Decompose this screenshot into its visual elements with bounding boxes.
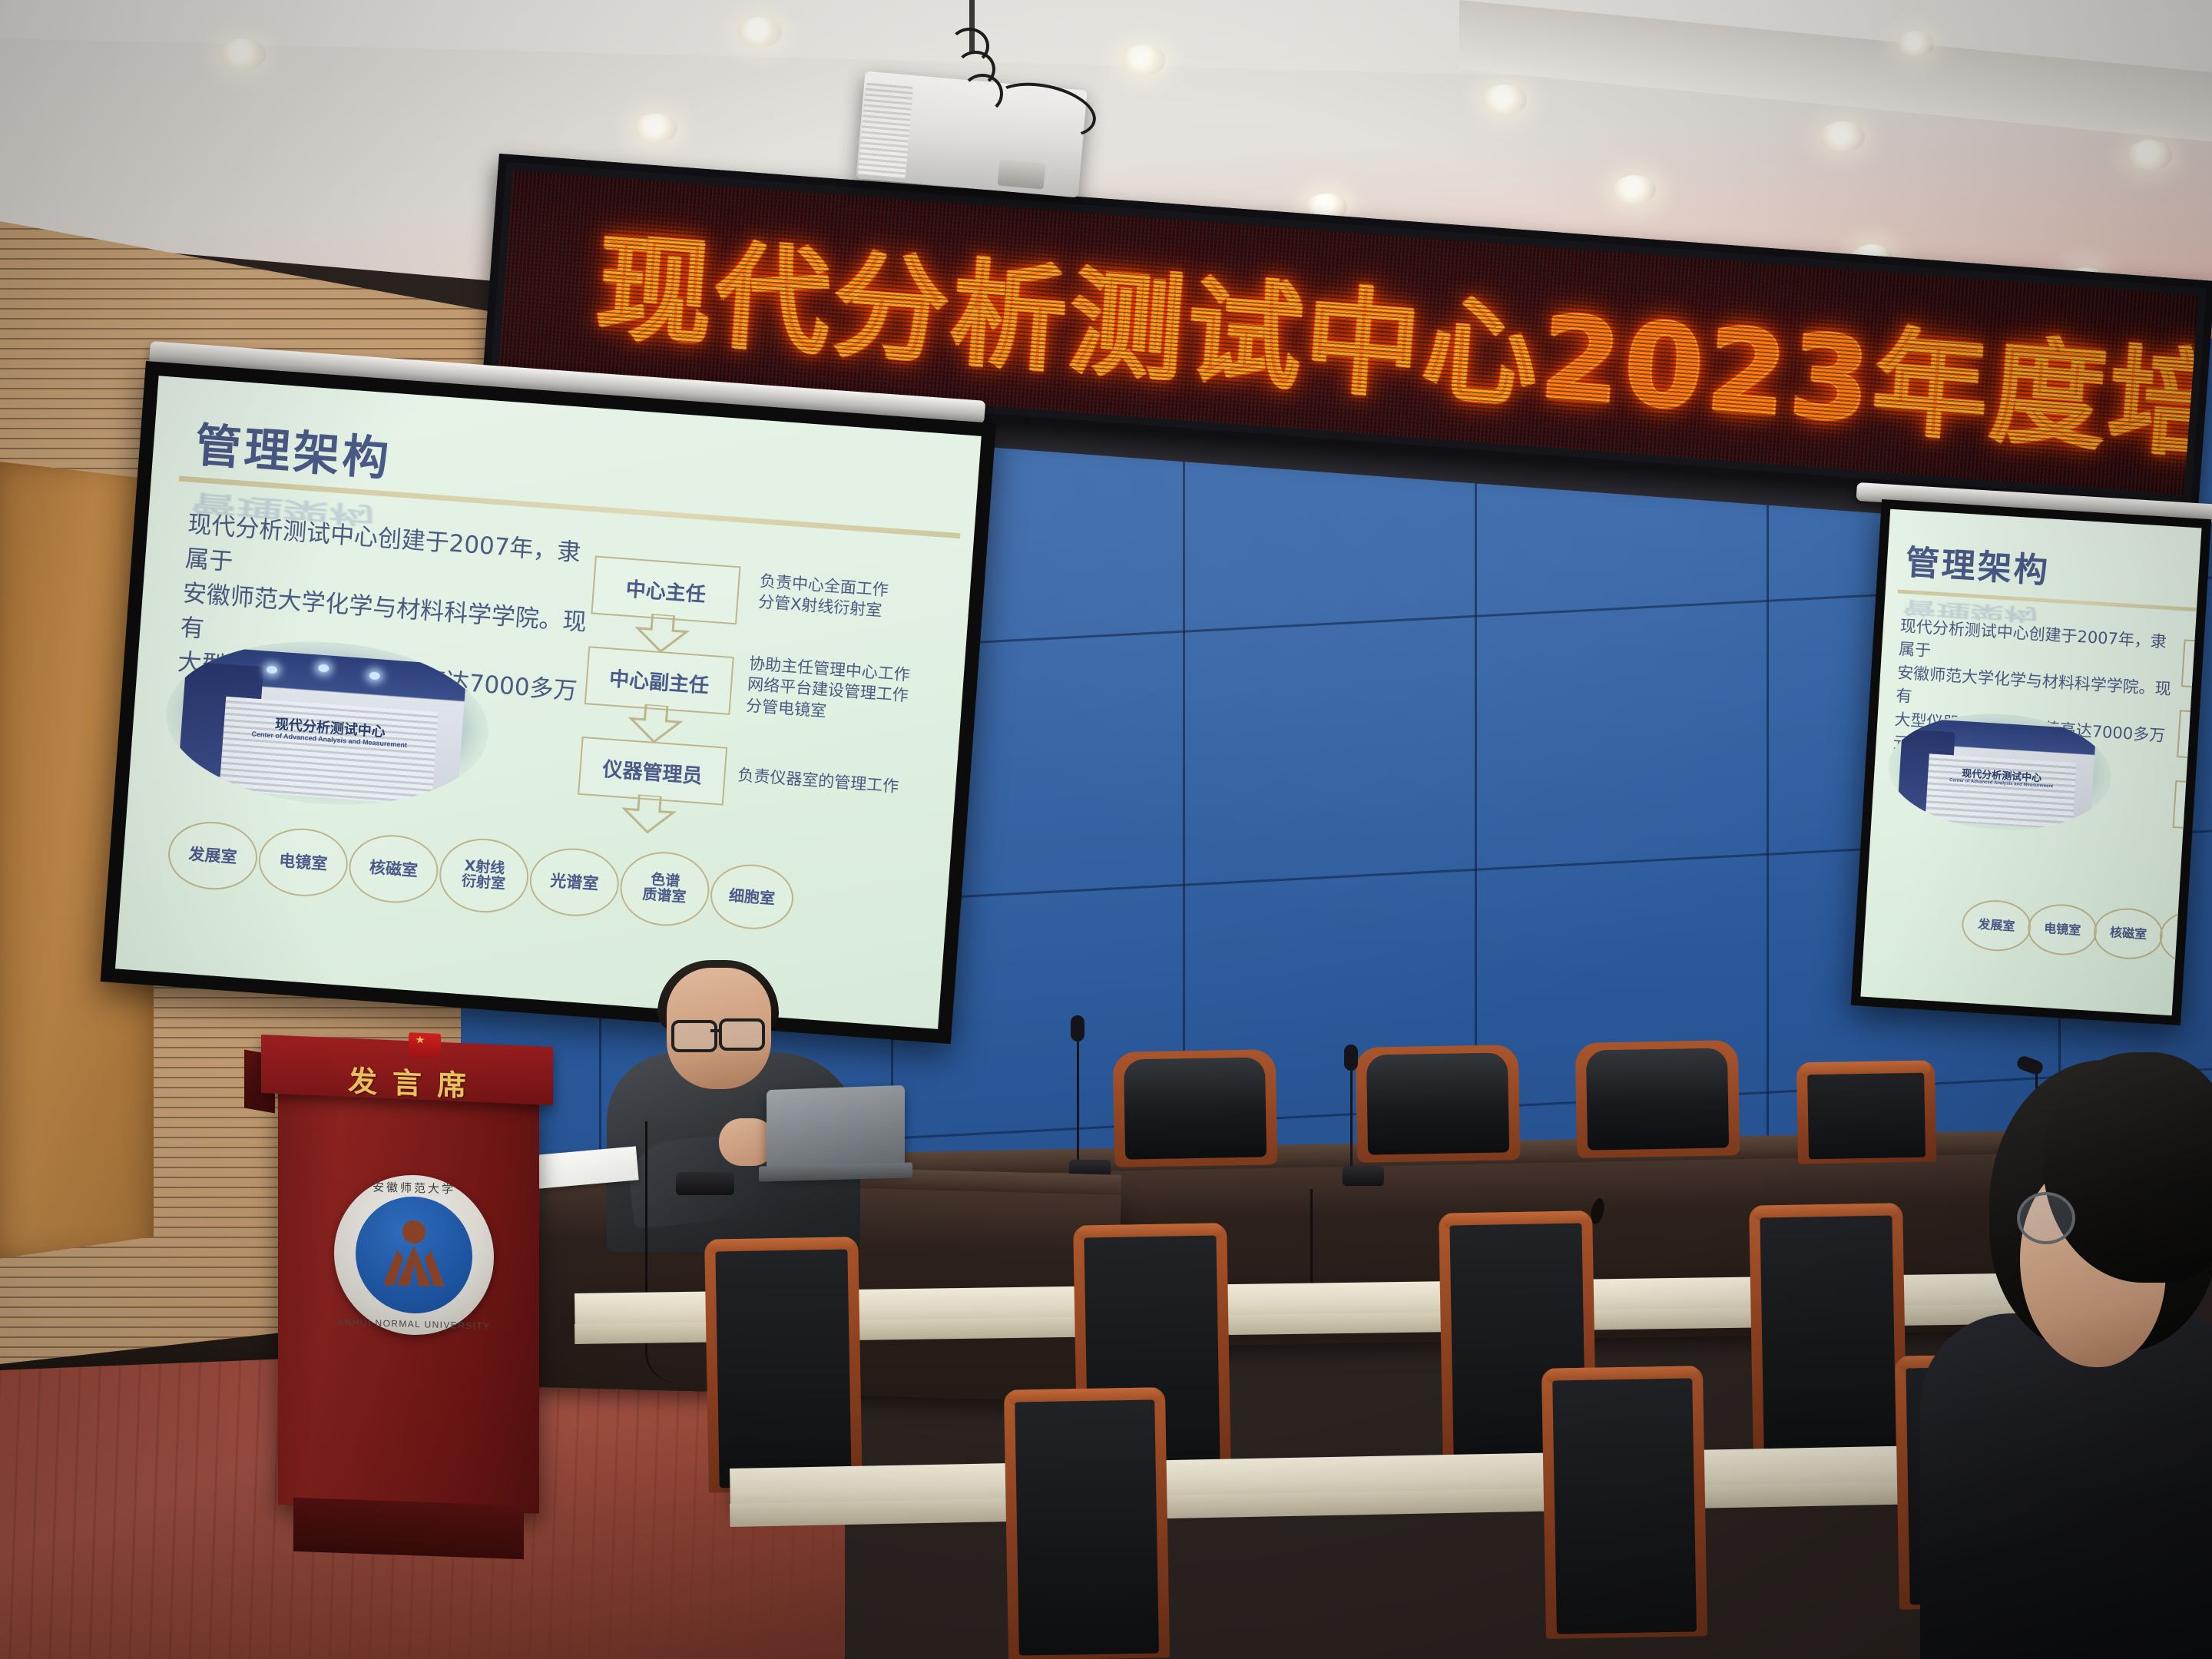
facade-lamp (267, 665, 278, 674)
lab-circle: 光谱室 (528, 846, 621, 919)
projection-screen-main: 管理架构 管理架构 现代分析测试中心创建于2007年，隶属于 安徽师范大学化学与… (101, 361, 996, 1044)
ceiling-downlight (1613, 175, 1656, 204)
lab-circle-secondary: 核磁室 (2092, 906, 2164, 961)
ceiling-downlight (634, 114, 677, 143)
wood-chair[interactable] (1796, 1060, 1936, 1164)
slide-title: 管理架构 (193, 408, 394, 489)
lab-circle: 色谱 质谱室 (618, 849, 712, 929)
executive-chair[interactable] (1113, 1049, 1278, 1167)
lab-circle: 发展室 (166, 819, 260, 892)
ceiling-downlight (2128, 140, 2172, 171)
microphone-stem (1077, 1040, 1079, 1161)
microphone-base (1343, 1166, 1384, 1186)
microphone-capsule (1071, 1015, 1084, 1041)
audience-eyeglasses (2017, 1192, 2075, 1244)
conference-hall-photo: 现代分析测试中心2023年度培训会 管理架构 管理架构 现代分析测试中心创建于2… (0, 0, 2212, 1659)
ceiling-downlight (737, 17, 782, 48)
slide-title-secondary: 管理架构 (1904, 535, 2051, 592)
lab-circle-secondary: 发展室 (1960, 898, 2032, 952)
audience-shoulders (1920, 1313, 2212, 1659)
microphone-stem (1350, 1069, 1353, 1169)
ceiling-downlight (1121, 45, 1166, 75)
org-box-director-secondary: 中 (2181, 639, 2202, 692)
lab-circle-secondary: 电镜室 (2026, 902, 2098, 957)
eyeglasses-right-lens (719, 1018, 765, 1051)
audience-chair[interactable] (1541, 1366, 1707, 1639)
projector-vent (858, 83, 913, 179)
ceiling-downlight (1820, 121, 1865, 152)
org-arrow-down-icon (624, 703, 685, 745)
slide-surface: 管理架构 管理架构 现代分析测试中心创建于2007年，隶属于 安徽师范大学化学与… (115, 376, 982, 1029)
org-arrow-down-icon (618, 793, 679, 836)
lab-circle: 核磁室 (346, 832, 440, 906)
microphone-capsule (1344, 1045, 1358, 1071)
audience-member-foreground (1966, 1060, 2212, 1659)
gooseneck-microphone[interactable] (1343, 1045, 1389, 1190)
ceiling-downlight (1897, 31, 1934, 57)
slide-surface-secondary: 管理架构 管理架构 现代分析测试中心创建于2007年，隶属于 安徽师范大学化学与… (1860, 509, 2201, 1016)
org-desc-deputy: 协助主任管理中心工作 网络平台建设管理工作 分管电镜室 (745, 654, 910, 728)
lab-circle: 细胞室 (708, 862, 796, 932)
audience-chair[interactable] (1749, 1203, 1907, 1459)
ceiling-downlight (1482, 84, 1527, 115)
executive-chair[interactable] (1575, 1040, 1740, 1158)
lab-circle: 电镜室 (257, 826, 350, 899)
org-desc-instrument-manager: 负责仪器室的管理工作 (737, 765, 899, 798)
org-arrow-down-icon (631, 612, 692, 654)
audience-chair[interactable] (1004, 1387, 1170, 1659)
emblem-figure-icon (374, 1214, 454, 1296)
projection-screen-secondary: 管理架构 管理架构 现代分析测试中心创建于2007年，隶属于 安徽师范大学化学与… (1851, 499, 2211, 1025)
party-emblem-badge-icon (409, 1032, 441, 1058)
projector-lens (998, 159, 1046, 189)
eyeglasses-bridge (710, 1029, 721, 1032)
ceiling-downlight (220, 38, 266, 71)
audience-chair[interactable] (704, 1237, 863, 1492)
gooseneck-microphone[interactable] (1069, 1015, 1115, 1184)
microphone-cable (645, 1121, 701, 1382)
eyeglasses-left-lens (671, 1020, 717, 1052)
lab-circle: X射线 衍射室 (437, 836, 531, 916)
org-desc-director: 负责中心全面工作 分管X射线衍射室 (757, 571, 889, 622)
podium-base (293, 1498, 524, 1559)
